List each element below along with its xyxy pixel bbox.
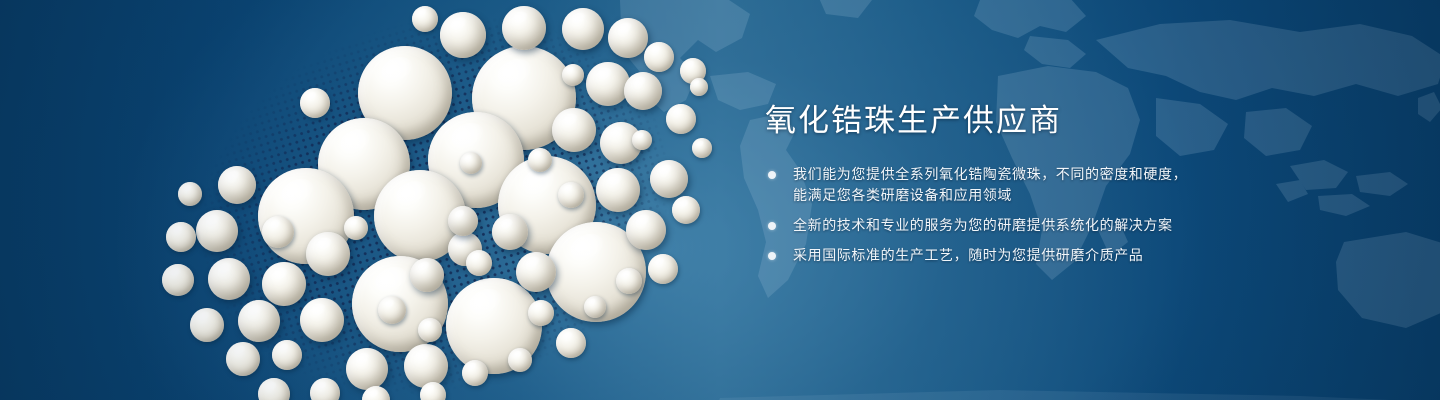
- dot-bullet-icon: [768, 222, 776, 230]
- list-item: 全新的技术和专业的服务为您的研磨提供系统化的解决方案: [765, 215, 1385, 236]
- feature-bullet-list: 我们能为您提供全系列氧化锆陶瓷微珠，不同的密度和硬度， 能满足您各类研磨设备和应…: [765, 164, 1385, 266]
- bullet-line: 能满足您各类研磨设备和应用领域: [793, 185, 1385, 206]
- bullet-line: 我们能为您提供全系列氧化锆陶瓷微珠，不同的密度和硬度，: [793, 164, 1385, 185]
- banner-copy: 氧化锆珠生产供应商 我们能为您提供全系列氧化锆陶瓷微珠，不同的密度和硬度， 能满…: [765, 104, 1385, 266]
- list-item: 采用国际标准的生产工艺，随时为您提供研磨介质产品: [765, 245, 1385, 266]
- dot-bullet-icon: [768, 252, 776, 260]
- bullet-line: 全新的技术和专业的服务为您的研磨提供系统化的解决方案: [793, 215, 1385, 236]
- list-item: 我们能为您提供全系列氧化锆陶瓷微珠，不同的密度和硬度， 能满足您各类研磨设备和应…: [765, 164, 1385, 206]
- hero-banner: 氧化锆珠生产供应商 我们能为您提供全系列氧化锆陶瓷微珠，不同的密度和硬度， 能满…: [0, 0, 1440, 400]
- page-title: 氧化锆珠生产供应商: [765, 104, 1385, 138]
- bullet-line: 采用国际标准的生产工艺，随时为您提供研磨介质产品: [793, 245, 1385, 266]
- dot-bullet-icon: [768, 171, 776, 179]
